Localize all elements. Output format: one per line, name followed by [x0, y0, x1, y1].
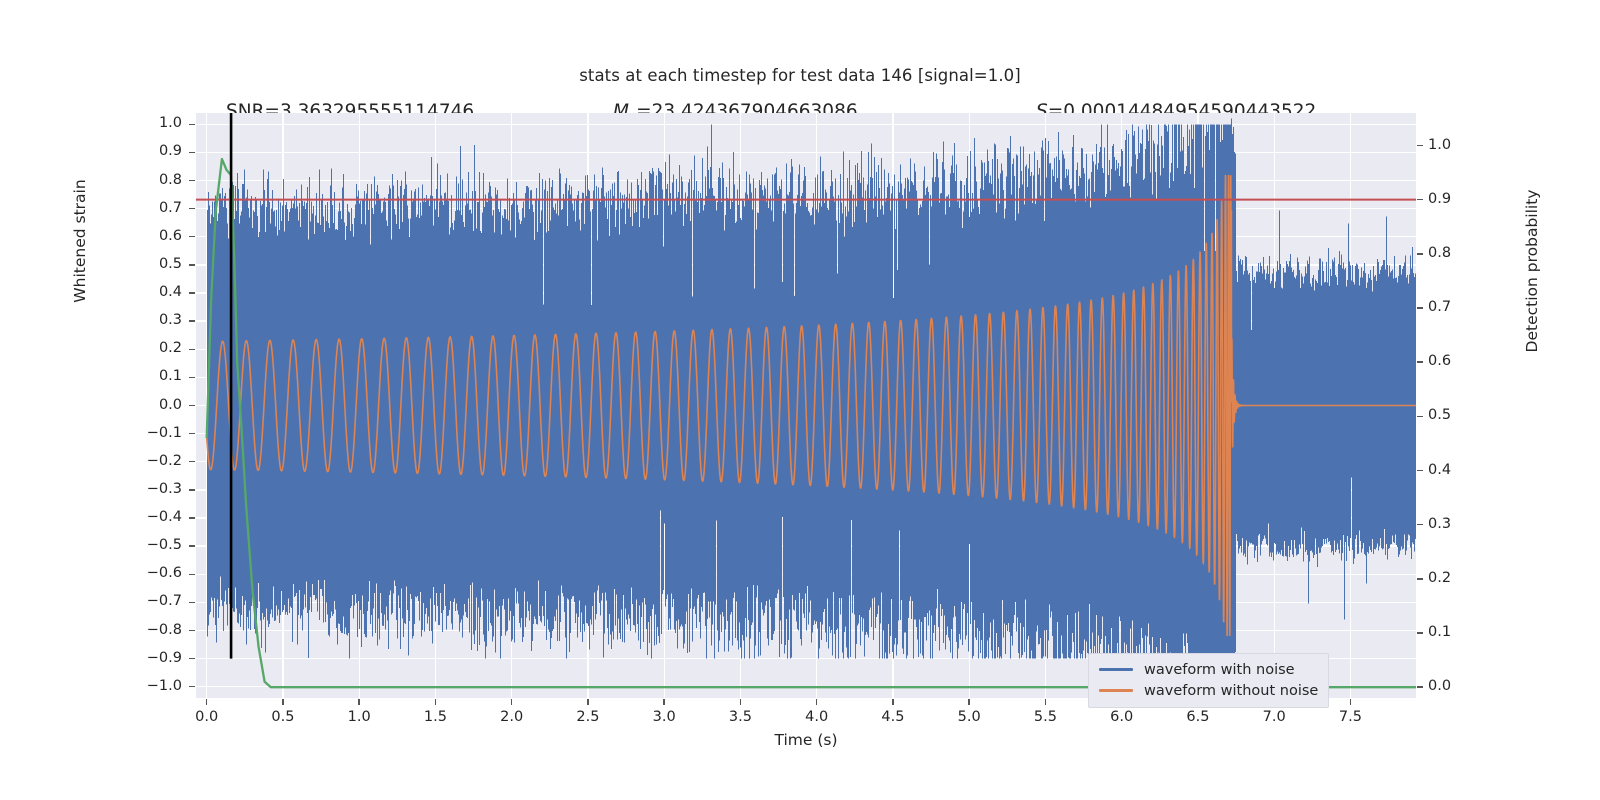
x-axis-tick — [1350, 699, 1351, 705]
y-axis-right-tick-label: 0.6 — [1428, 353, 1488, 369]
figure: stats at each timestep for test data 146… — [0, 0, 1600, 800]
y-axis-left-tick-label: 0.5 — [122, 256, 182, 272]
y-axis-left-tick-label: 0.8 — [122, 172, 182, 188]
y-axis-right-tick-label: 0.0 — [1428, 678, 1488, 694]
y-axis-right-tick-label: 0.8 — [1428, 245, 1488, 261]
y-axis-right-tick-label: 0.9 — [1428, 191, 1488, 207]
x-axis-tick — [282, 699, 283, 705]
y-axis-right-tick-label: 0.4 — [1428, 462, 1488, 478]
y-axis-left-tick — [189, 630, 195, 631]
y-axis-left-tick-label: −0.5 — [122, 537, 182, 553]
y-axis-right-tick — [1417, 416, 1423, 417]
y-axis-left-tick — [189, 180, 195, 181]
y-axis-left-tick — [189, 489, 195, 490]
x-axis-tick — [358, 699, 359, 705]
legend-color-swatch — [1099, 689, 1133, 692]
x-axis-tick-label: 4.5 — [863, 709, 923, 725]
y-axis-right-tick — [1417, 253, 1423, 254]
legend-color-swatch — [1099, 668, 1133, 671]
y-axis-right-tick-label: 1.0 — [1428, 137, 1488, 153]
y-axis-left-tick-label: −0.7 — [122, 593, 182, 609]
y-axis-left-tick — [189, 461, 195, 462]
x-axis-label: Time (s) — [196, 731, 1416, 749]
y-axis-left-tick — [189, 545, 195, 546]
y-axis-right-tick — [1417, 361, 1423, 362]
legend-item: waveform without noise — [1099, 680, 1318, 701]
x-axis-tick-label: 4.0 — [787, 709, 847, 725]
page-title: stats at each timestep for test data 146… — [0, 66, 1600, 85]
y-axis-left-tick — [189, 208, 195, 209]
y-axis-left-tick-label: 0.7 — [122, 200, 182, 216]
y-axis-right-tick — [1417, 199, 1423, 200]
y-axis-left-tick-label: −0.4 — [122, 509, 182, 525]
y-axis-left-tick-label: 1.0 — [122, 115, 182, 131]
trigger-marker-line — [196, 113, 1416, 698]
y-axis-left-tick-label: 0.3 — [122, 312, 182, 328]
x-axis-tick-label: 6.0 — [1092, 709, 1152, 725]
x-axis-tick — [663, 699, 664, 705]
legend-item: waveform with noise — [1099, 659, 1318, 680]
y-axis-right-tick-label: 0.5 — [1428, 407, 1488, 423]
y-axis-left-tick — [189, 686, 195, 687]
y-axis-left-tick — [189, 517, 195, 518]
y-axis-left-tick — [189, 658, 195, 659]
y-axis-label-left: Whitened strain — [71, 101, 89, 381]
y-axis-right-tick — [1417, 470, 1423, 471]
y-axis-right-tick-label: 0.3 — [1428, 516, 1488, 532]
x-axis-tick-label: 1.5 — [405, 709, 465, 725]
plot-area — [196, 113, 1416, 698]
x-axis-tick-label: 2.5 — [558, 709, 618, 725]
y-axis-left-tick-label: 0.6 — [122, 228, 182, 244]
y-axis-left-tick-label: 0.2 — [122, 340, 182, 356]
x-axis-tick-label: 2.0 — [482, 709, 542, 725]
x-axis-tick-label: 3.0 — [634, 709, 694, 725]
x-axis-tick-label: 6.5 — [1168, 709, 1228, 725]
y-axis-right-tick — [1417, 307, 1423, 308]
x-axis-tick — [1045, 699, 1046, 705]
y-axis-left-tick — [189, 152, 195, 153]
y-axis-left-tick — [189, 433, 195, 434]
y-axis-left-tick — [189, 349, 195, 350]
y-axis-left-tick — [189, 574, 195, 575]
x-axis-tick — [816, 699, 817, 705]
x-axis-tick-label: 5.0 — [939, 709, 999, 725]
y-axis-left-tick-label: 0.4 — [122, 284, 182, 300]
y-axis-right-tick — [1417, 578, 1423, 579]
x-axis-tick-label: 7.0 — [1244, 709, 1304, 725]
y-axis-right-tick — [1417, 632, 1423, 633]
x-axis-tick — [435, 699, 436, 705]
y-axis-left-tick — [189, 320, 195, 321]
x-axis-tick — [511, 699, 512, 705]
x-axis-tick — [740, 699, 741, 705]
y-axis-left-tick-label: −0.3 — [122, 481, 182, 497]
y-axis-left-tick — [189, 405, 195, 406]
y-axis-right-tick — [1417, 524, 1423, 525]
y-axis-left-tick-label: −0.6 — [122, 565, 182, 581]
x-axis-tick — [892, 699, 893, 705]
y-axis-left-tick-label: −0.2 — [122, 453, 182, 469]
y-axis-left-tick — [189, 292, 195, 293]
x-axis-tick-label: 1.0 — [329, 709, 389, 725]
x-axis-tick — [968, 699, 969, 705]
x-axis-tick-label: 3.5 — [710, 709, 770, 725]
y-axis-left-tick — [189, 236, 195, 237]
y-axis-right-tick — [1417, 145, 1423, 146]
y-axis-left-tick — [189, 602, 195, 603]
x-axis-tick — [587, 699, 588, 705]
y-axis-left-tick-label: −0.8 — [122, 622, 182, 638]
y-axis-left-tick — [189, 124, 195, 125]
legend-item-label: waveform without noise — [1144, 683, 1318, 699]
y-axis-right-tick — [1417, 686, 1423, 687]
y-axis-left-tick-label: 0.1 — [122, 368, 182, 384]
x-axis-tick-label: 0.5 — [253, 709, 313, 725]
y-axis-left-tick-label: 0.0 — [122, 397, 182, 413]
y-axis-left-tick — [189, 377, 195, 378]
y-axis-left-tick-label: 0.9 — [122, 143, 182, 159]
y-axis-left-tick-label: −0.9 — [122, 650, 182, 666]
legend: waveform with noisewaveform without nois… — [1088, 653, 1329, 708]
y-axis-left-tick — [189, 264, 195, 265]
y-axis-right-tick-label: 0.7 — [1428, 299, 1488, 315]
x-axis-tick-label: 7.5 — [1320, 709, 1380, 725]
y-axis-left-tick-label: −1.0 — [122, 678, 182, 694]
x-axis-tick-label: 0.0 — [177, 709, 237, 725]
x-axis-tick-label: 5.5 — [1015, 709, 1075, 725]
y-axis-right-tick-label: 0.2 — [1428, 570, 1488, 586]
y-axis-right-tick-label: 0.1 — [1428, 624, 1488, 640]
y-axis-label-right: Detection probability — [1523, 131, 1541, 411]
legend-item-label: waveform with noise — [1144, 662, 1295, 678]
y-axis-left-tick-label: −0.1 — [122, 425, 182, 441]
x-axis-tick — [206, 699, 207, 705]
